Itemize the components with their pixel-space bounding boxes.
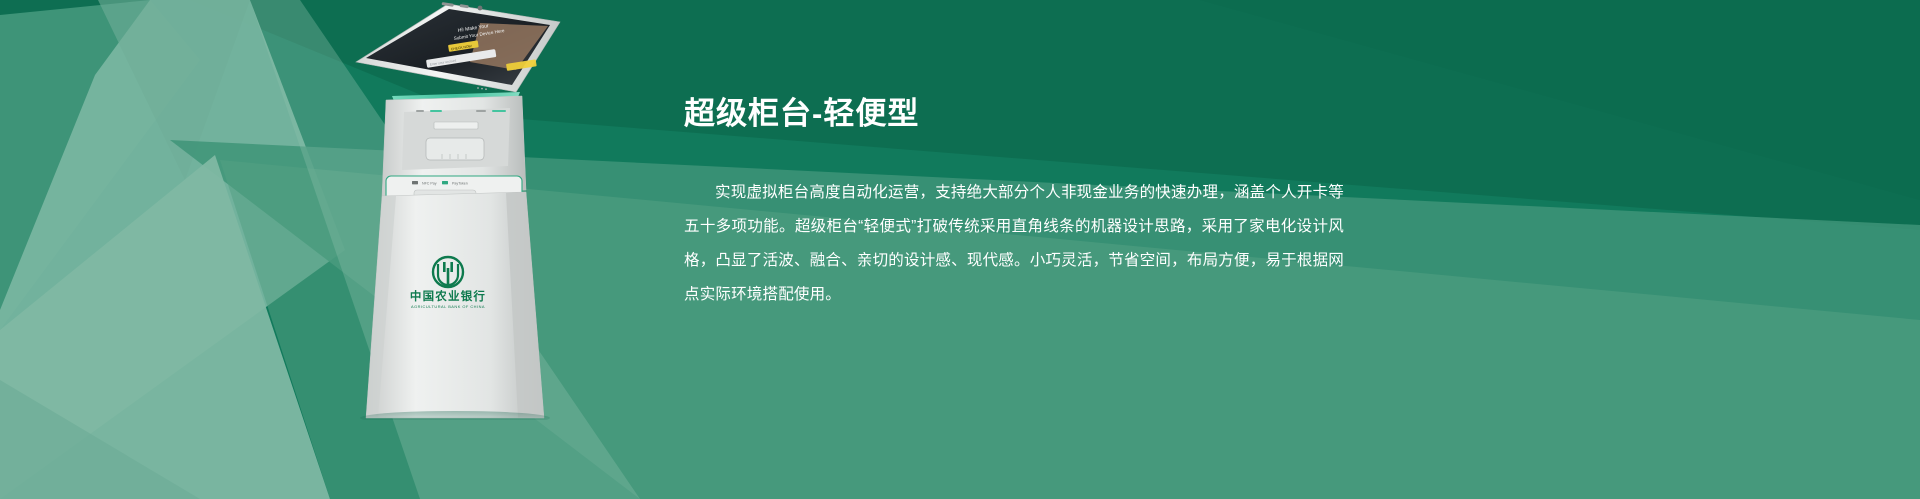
receipt-slot [434,122,478,129]
kiosk-screen-head: Hi! Make Your Submit Your Device Here CH… [356,2,560,92]
product-banner: Hi! Make Your Submit Your Device Here CH… [0,0,1920,499]
cash-scoop [426,138,484,160]
card-reader-nfc-label: NFC Pay [422,182,437,186]
card-reader-pay-label: PayToken [452,182,468,186]
camera-icon [478,6,483,11]
page-title: 超级柜台-轻便型 [684,95,1684,132]
kiosk-device: Hi! Make Your Submit Your Device Here CH… [330,0,630,420]
speaker-dots [477,87,487,90]
text-content: 超级柜台-轻便型 实现虚拟柜台高度自动化运营，支持绝大部分个人非现金业务的快速办… [684,95,1684,312]
bank-name-cn: 中国农业银行 [410,289,486,303]
bank-name-en: AGRICULTURAL BANK OF CHINA [411,304,485,309]
description-paragraph: 实现虚拟柜台高度自动化运营，支持绝大部分个人非现金业务的快速办理，涵盖个人开卡等… [684,176,1344,312]
product-description: 实现虚拟柜台高度自动化运营，支持绝大部分个人非现金业务的快速办理，涵盖个人开卡等… [684,176,1344,312]
